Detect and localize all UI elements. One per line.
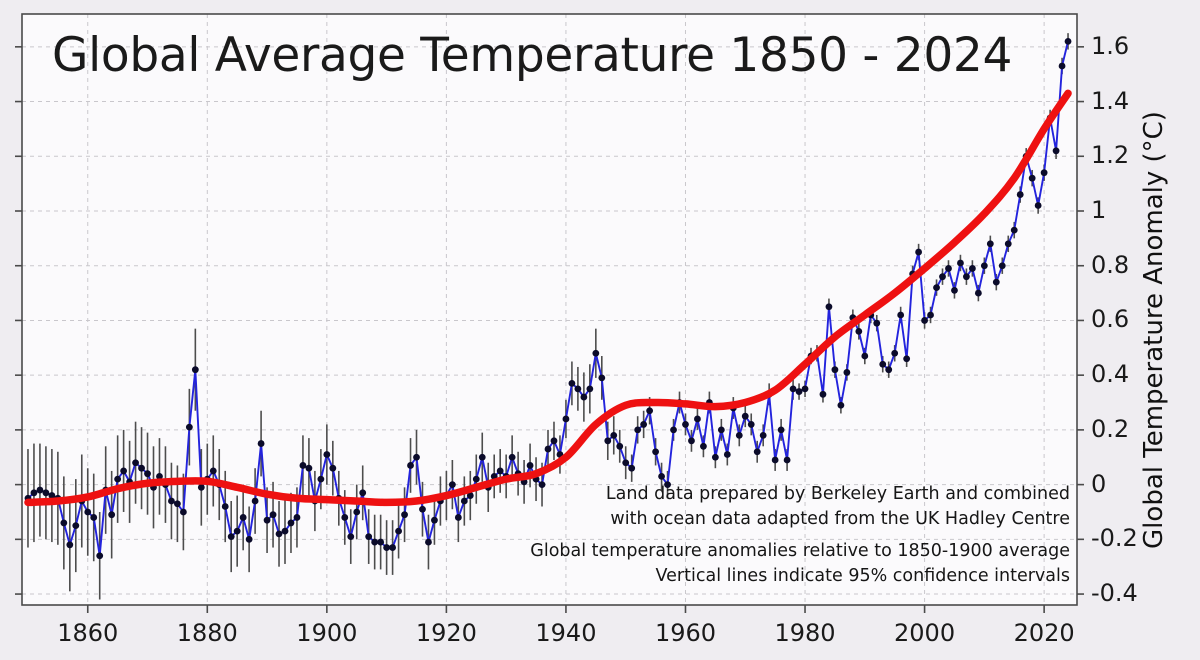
x-tick-label: 1880 — [157, 619, 257, 647]
x-tick-label: 1860 — [38, 619, 138, 647]
chart-title: Global Average Temperature 1850 - 2024 — [52, 28, 1012, 83]
y-tick-label: 1.6 — [1091, 32, 1129, 60]
y-axis-label: Global Temperature Anomaly (°C) — [1139, 111, 1169, 549]
temperature-anomaly-chart — [0, 0, 1200, 660]
annotation-line-1: Land data prepared by Berkeley Earth and… — [560, 484, 1070, 504]
y-tick-label: 1.2 — [1091, 141, 1129, 169]
x-tick-label: 1900 — [277, 619, 377, 647]
x-tick-label: 1940 — [516, 619, 616, 647]
x-tick-label: 2020 — [994, 619, 1094, 647]
y-tick-label: 0.8 — [1091, 251, 1129, 279]
y-tick-label: 0.6 — [1091, 305, 1129, 333]
y-tick-label: 0 — [1091, 470, 1106, 498]
chart-figure: Global Average Temperature 1850 - 2024 G… — [0, 0, 1200, 660]
x-tick-label: 2000 — [875, 619, 975, 647]
annotation-line-4: Vertical lines indicate 95% confidence i… — [470, 566, 1070, 586]
y-tick-label: 0.4 — [1091, 360, 1129, 388]
annotation-line-2: with ocean data adapted from the UK Hadl… — [560, 509, 1070, 529]
x-tick-label: 1980 — [755, 619, 855, 647]
y-tick-label: -0.2 — [1091, 524, 1138, 552]
y-tick-label: 1 — [1091, 196, 1106, 224]
y-tick-label: 0.2 — [1091, 415, 1129, 443]
annotation-line-3: Global temperature anomalies relative to… — [470, 541, 1070, 561]
y-tick-label: -0.4 — [1091, 579, 1138, 607]
y-tick-label: 1.4 — [1091, 87, 1129, 115]
x-tick-label: 1920 — [396, 619, 496, 647]
x-tick-label: 1960 — [635, 619, 735, 647]
